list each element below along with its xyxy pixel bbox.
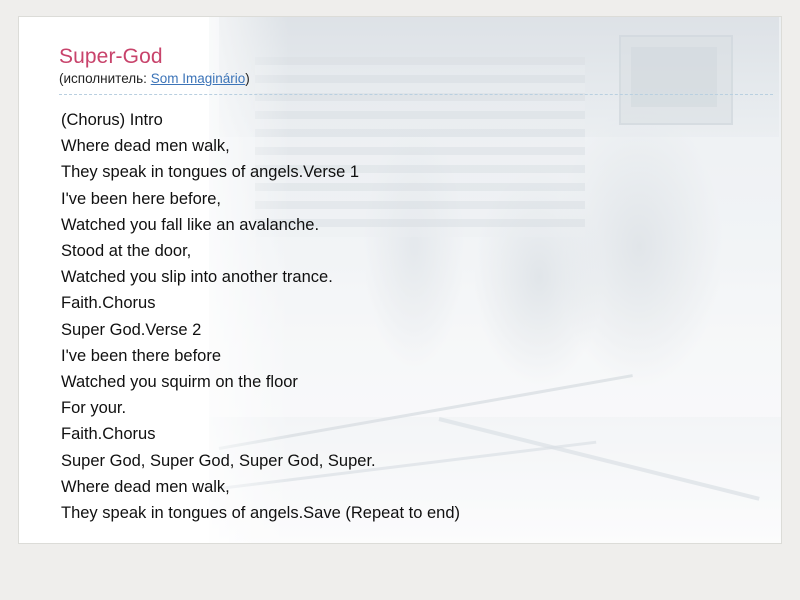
- artist-suffix-label: ): [245, 71, 250, 86]
- lyrics-card: Super-God (исполнитель: Som Imaginário) …: [18, 16, 782, 544]
- page-title: Super-God: [59, 45, 751, 69]
- artist-link[interactable]: Som Imaginário: [151, 71, 246, 86]
- lyrics-text: (Chorus) Intro Where dead men walk, They…: [61, 107, 751, 526]
- card-content: Super-God (исполнитель: Som Imaginário) …: [19, 17, 781, 526]
- artist-prefix-label: (исполнитель:: [59, 71, 147, 86]
- artist-line: (исполнитель: Som Imaginário): [59, 71, 751, 86]
- header-divider: [59, 94, 773, 95]
